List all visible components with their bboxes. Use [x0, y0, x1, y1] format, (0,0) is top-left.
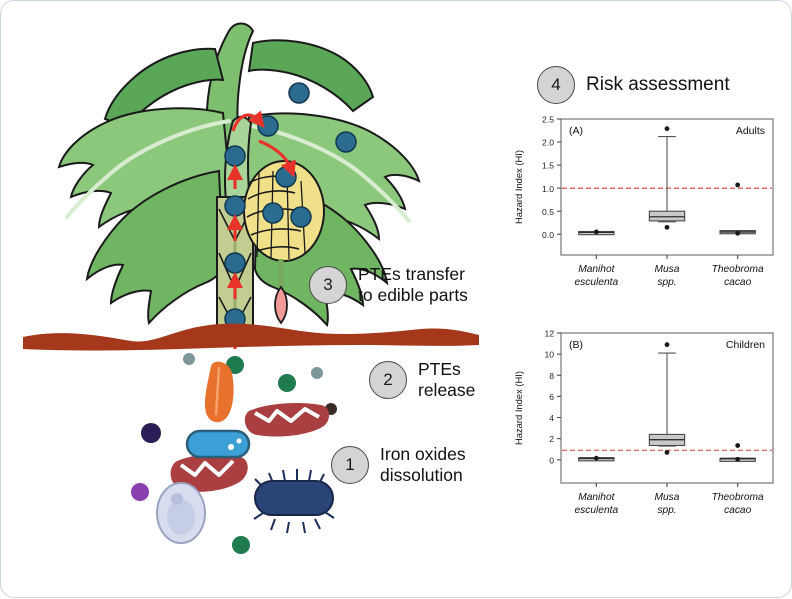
pte-dot-banana-right [291, 207, 311, 227]
box-iqr [649, 211, 684, 221]
banana-flower-bract [275, 287, 287, 323]
x-category-label: spp. [657, 277, 676, 288]
leaf-lower-left [87, 171, 223, 323]
chart-svg: 024681012Hazard Index (HI)(B)ChildrenMan… [509, 327, 781, 533]
y-tick-label: 0 [549, 455, 554, 465]
step-2-number: 2 [369, 361, 407, 399]
y-tick-label: 0.5 [542, 207, 554, 217]
pte-particle-purple [131, 483, 149, 501]
pte-dot-stem-mid [225, 196, 245, 216]
x-category-label: Theobroma [712, 492, 764, 503]
y-tick-label: 2.0 [542, 138, 554, 148]
pte-particle-gray-2 [311, 367, 323, 379]
chart-panel-a-adults: 0.00.51.01.52.02.5Hazard Index (HI)(A)Ad… [509, 113, 781, 305]
step-4-number: 4 [537, 66, 575, 104]
x-category-label: Musa [655, 264, 680, 275]
x-category-label: Musa [655, 492, 680, 503]
soil-particles-group [131, 353, 337, 554]
step-4-risk-assessment: 4 Risk assessment [537, 66, 730, 104]
y-axis-title: Hazard Index (HI) [513, 371, 524, 445]
pte-dot-banana-mid [263, 203, 283, 223]
chart-panel-b-children: 024681012Hazard Index (HI)(B)ChildrenMan… [509, 327, 781, 533]
outlier-point-2 [665, 225, 670, 230]
x-category-label: esculenta [575, 277, 619, 288]
pte-particle-green-3 [232, 536, 250, 554]
pte-dot-banana-top [276, 167, 296, 187]
x-category-label: cacao [724, 277, 752, 288]
y-tick-label: 2.5 [542, 115, 554, 125]
chart-svg: 0.00.51.01.52.02.5Hazard Index (HI)(A)Ad… [509, 113, 781, 305]
pte-particle-green-2 [278, 374, 296, 392]
panel-letter: (A) [569, 125, 583, 137]
step-2-label: PTEs release [418, 359, 475, 400]
panel-letter: (B) [569, 339, 583, 351]
step-3-label: PTEs transfer to edible parts [358, 264, 468, 305]
outlier-point-2 [665, 450, 670, 455]
pte-dot-stem-lower [225, 253, 245, 273]
y-tick-label: 0.0 [542, 230, 554, 240]
group-label: Children [726, 339, 765, 351]
leaf-upper-right [249, 40, 373, 111]
y-tick-label: 1.5 [542, 161, 554, 171]
bacterium-blue [187, 431, 249, 457]
pte-dot-leaf-upper-right [289, 83, 309, 103]
step-1-label: Iron oxides dissolution [380, 444, 466, 485]
step-3-number: 3 [309, 266, 347, 304]
outlier-point-1 [735, 183, 740, 188]
pte-dot-stem-upper [225, 146, 245, 166]
bacterium-navy [254, 469, 334, 533]
soil-cell-cytoplasm [167, 499, 195, 535]
y-tick-label: 2 [549, 434, 554, 444]
outlier-point-1 [665, 126, 670, 131]
y-tick-label: 10 [544, 350, 554, 360]
x-category-label: Manihot [578, 264, 615, 275]
y-tick-label: 8 [549, 371, 554, 381]
pte-particle-purple-dark [141, 423, 161, 443]
outlier-point-1 [665, 342, 670, 347]
bacterium-blue-dot-1 [228, 444, 234, 450]
outlier-point-1 [594, 230, 599, 235]
bacterium-navy-body [255, 481, 333, 515]
bacterium-blue-dot-2 [237, 439, 242, 444]
step-1-number: 1 [331, 446, 369, 484]
x-category-label: esculenta [575, 505, 619, 516]
outlier-point-2 [735, 231, 740, 236]
y-tick-label: 1.0 [542, 184, 554, 194]
x-category-label: Manihot [578, 492, 615, 503]
step-2-release: 2 PTEs release [369, 359, 475, 400]
step-1-dissolution: 1 Iron oxides dissolution [331, 444, 466, 485]
pte-dot-leaf-center [258, 116, 278, 136]
outlier-point-2 [735, 457, 740, 462]
step-3-transfer: 3 PTEs transfer to edible parts [309, 264, 468, 305]
x-category-label: Theobroma [712, 264, 764, 275]
group-label: Adults [736, 125, 765, 137]
x-category-label: spp. [657, 505, 676, 516]
y-tick-label: 6 [549, 392, 554, 402]
step-4-label: Risk assessment [586, 74, 730, 96]
y-tick-label: 12 [544, 329, 554, 339]
y-axis-title: Hazard Index (HI) [513, 150, 524, 224]
soil-cell-nucleus [171, 493, 183, 505]
outlier-point-1 [735, 443, 740, 448]
pte-dot-leaf-right [336, 132, 356, 152]
soil-layer [23, 324, 479, 351]
x-category-label: cacao [724, 505, 752, 516]
pte-particle-gray-1 [183, 353, 195, 365]
y-tick-label: 4 [549, 413, 554, 423]
outlier-point-1 [594, 456, 599, 461]
figure-container: 3 PTEs transfer to edible parts 2 PTEs r… [0, 0, 792, 598]
